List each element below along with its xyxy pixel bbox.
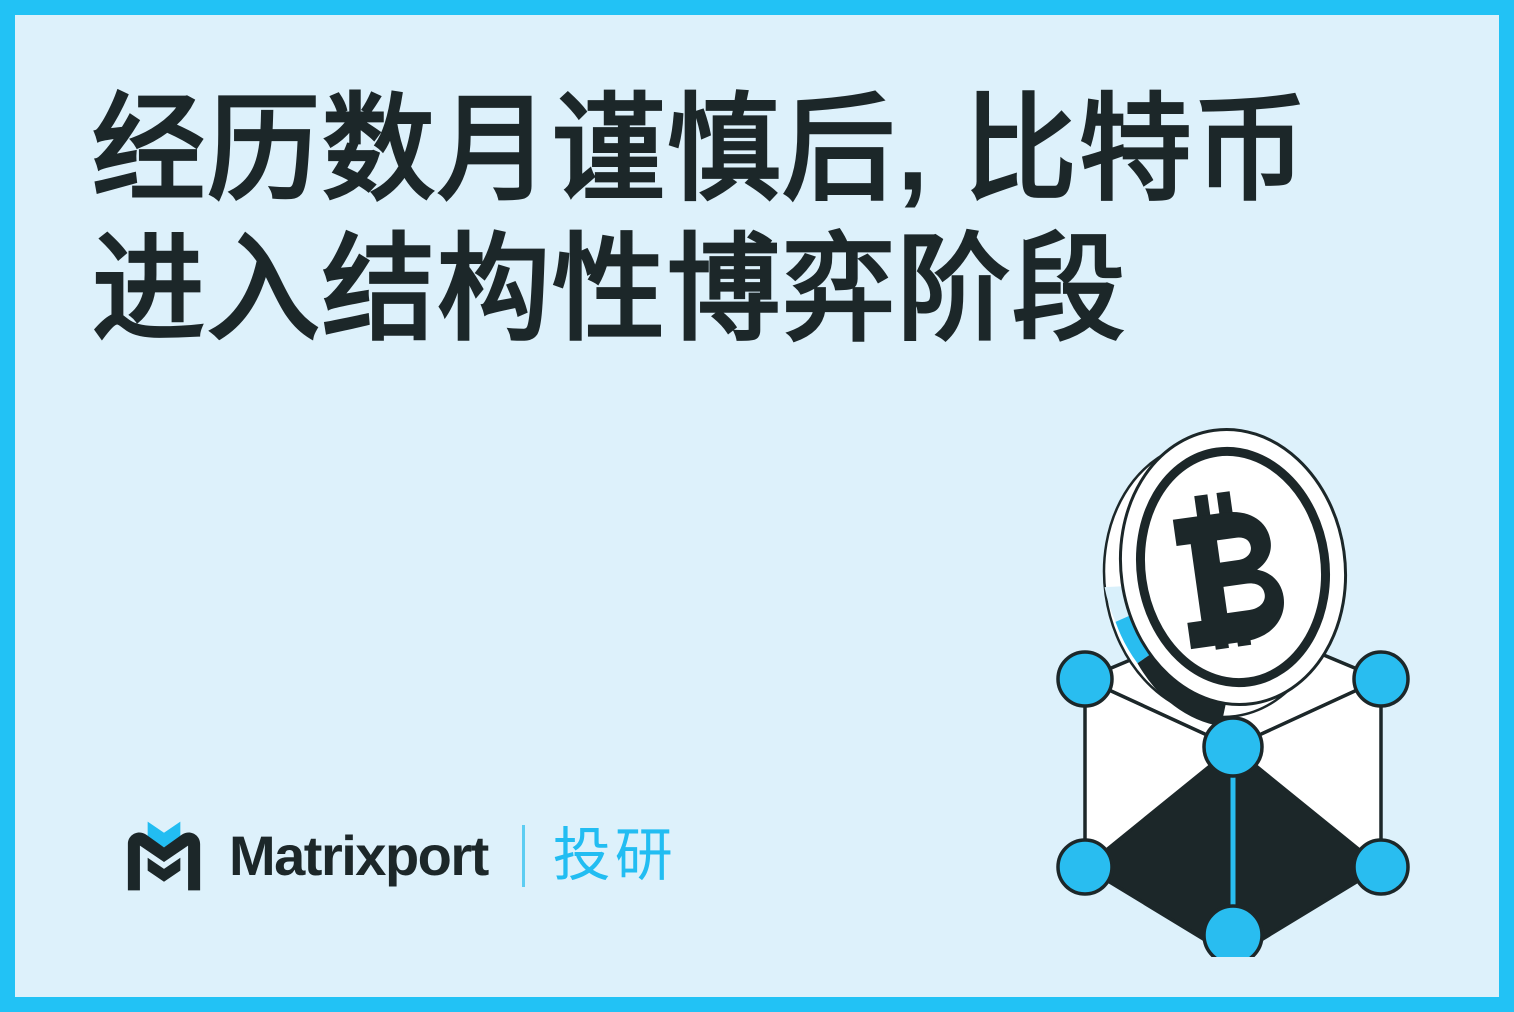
brand-sub-label: 投研 — [553, 827, 677, 885]
poster-canvas: 经历数月谨慎后, 比特币 进入结构性博弈阶段 Matrixport 投研 — [0, 0, 1514, 1012]
node-bottom-center — [1204, 906, 1262, 957]
brand-lockup: Matrixport 投研 — [121, 810, 677, 902]
page-title: 经历数月谨慎后, 比特币 进入结构性博弈阶段 — [92, 77, 1422, 357]
title-line-2: 进入结构性博弈阶段 — [92, 217, 1422, 361]
node-bottom-right — [1354, 840, 1408, 894]
node-bottom-left — [1058, 840, 1112, 894]
node-center — [1204, 718, 1262, 776]
matrixport-m-logomark — [121, 813, 207, 899]
brand-wordmark: Matrixport — [229, 828, 488, 884]
node-top-right — [1354, 652, 1408, 706]
node-top-left — [1058, 652, 1112, 706]
brand-divider — [522, 825, 525, 887]
title-line-1: 经历数月谨慎后, 比特币 — [92, 77, 1422, 221]
bitcoin-blockchain-illustration — [1033, 397, 1433, 957]
